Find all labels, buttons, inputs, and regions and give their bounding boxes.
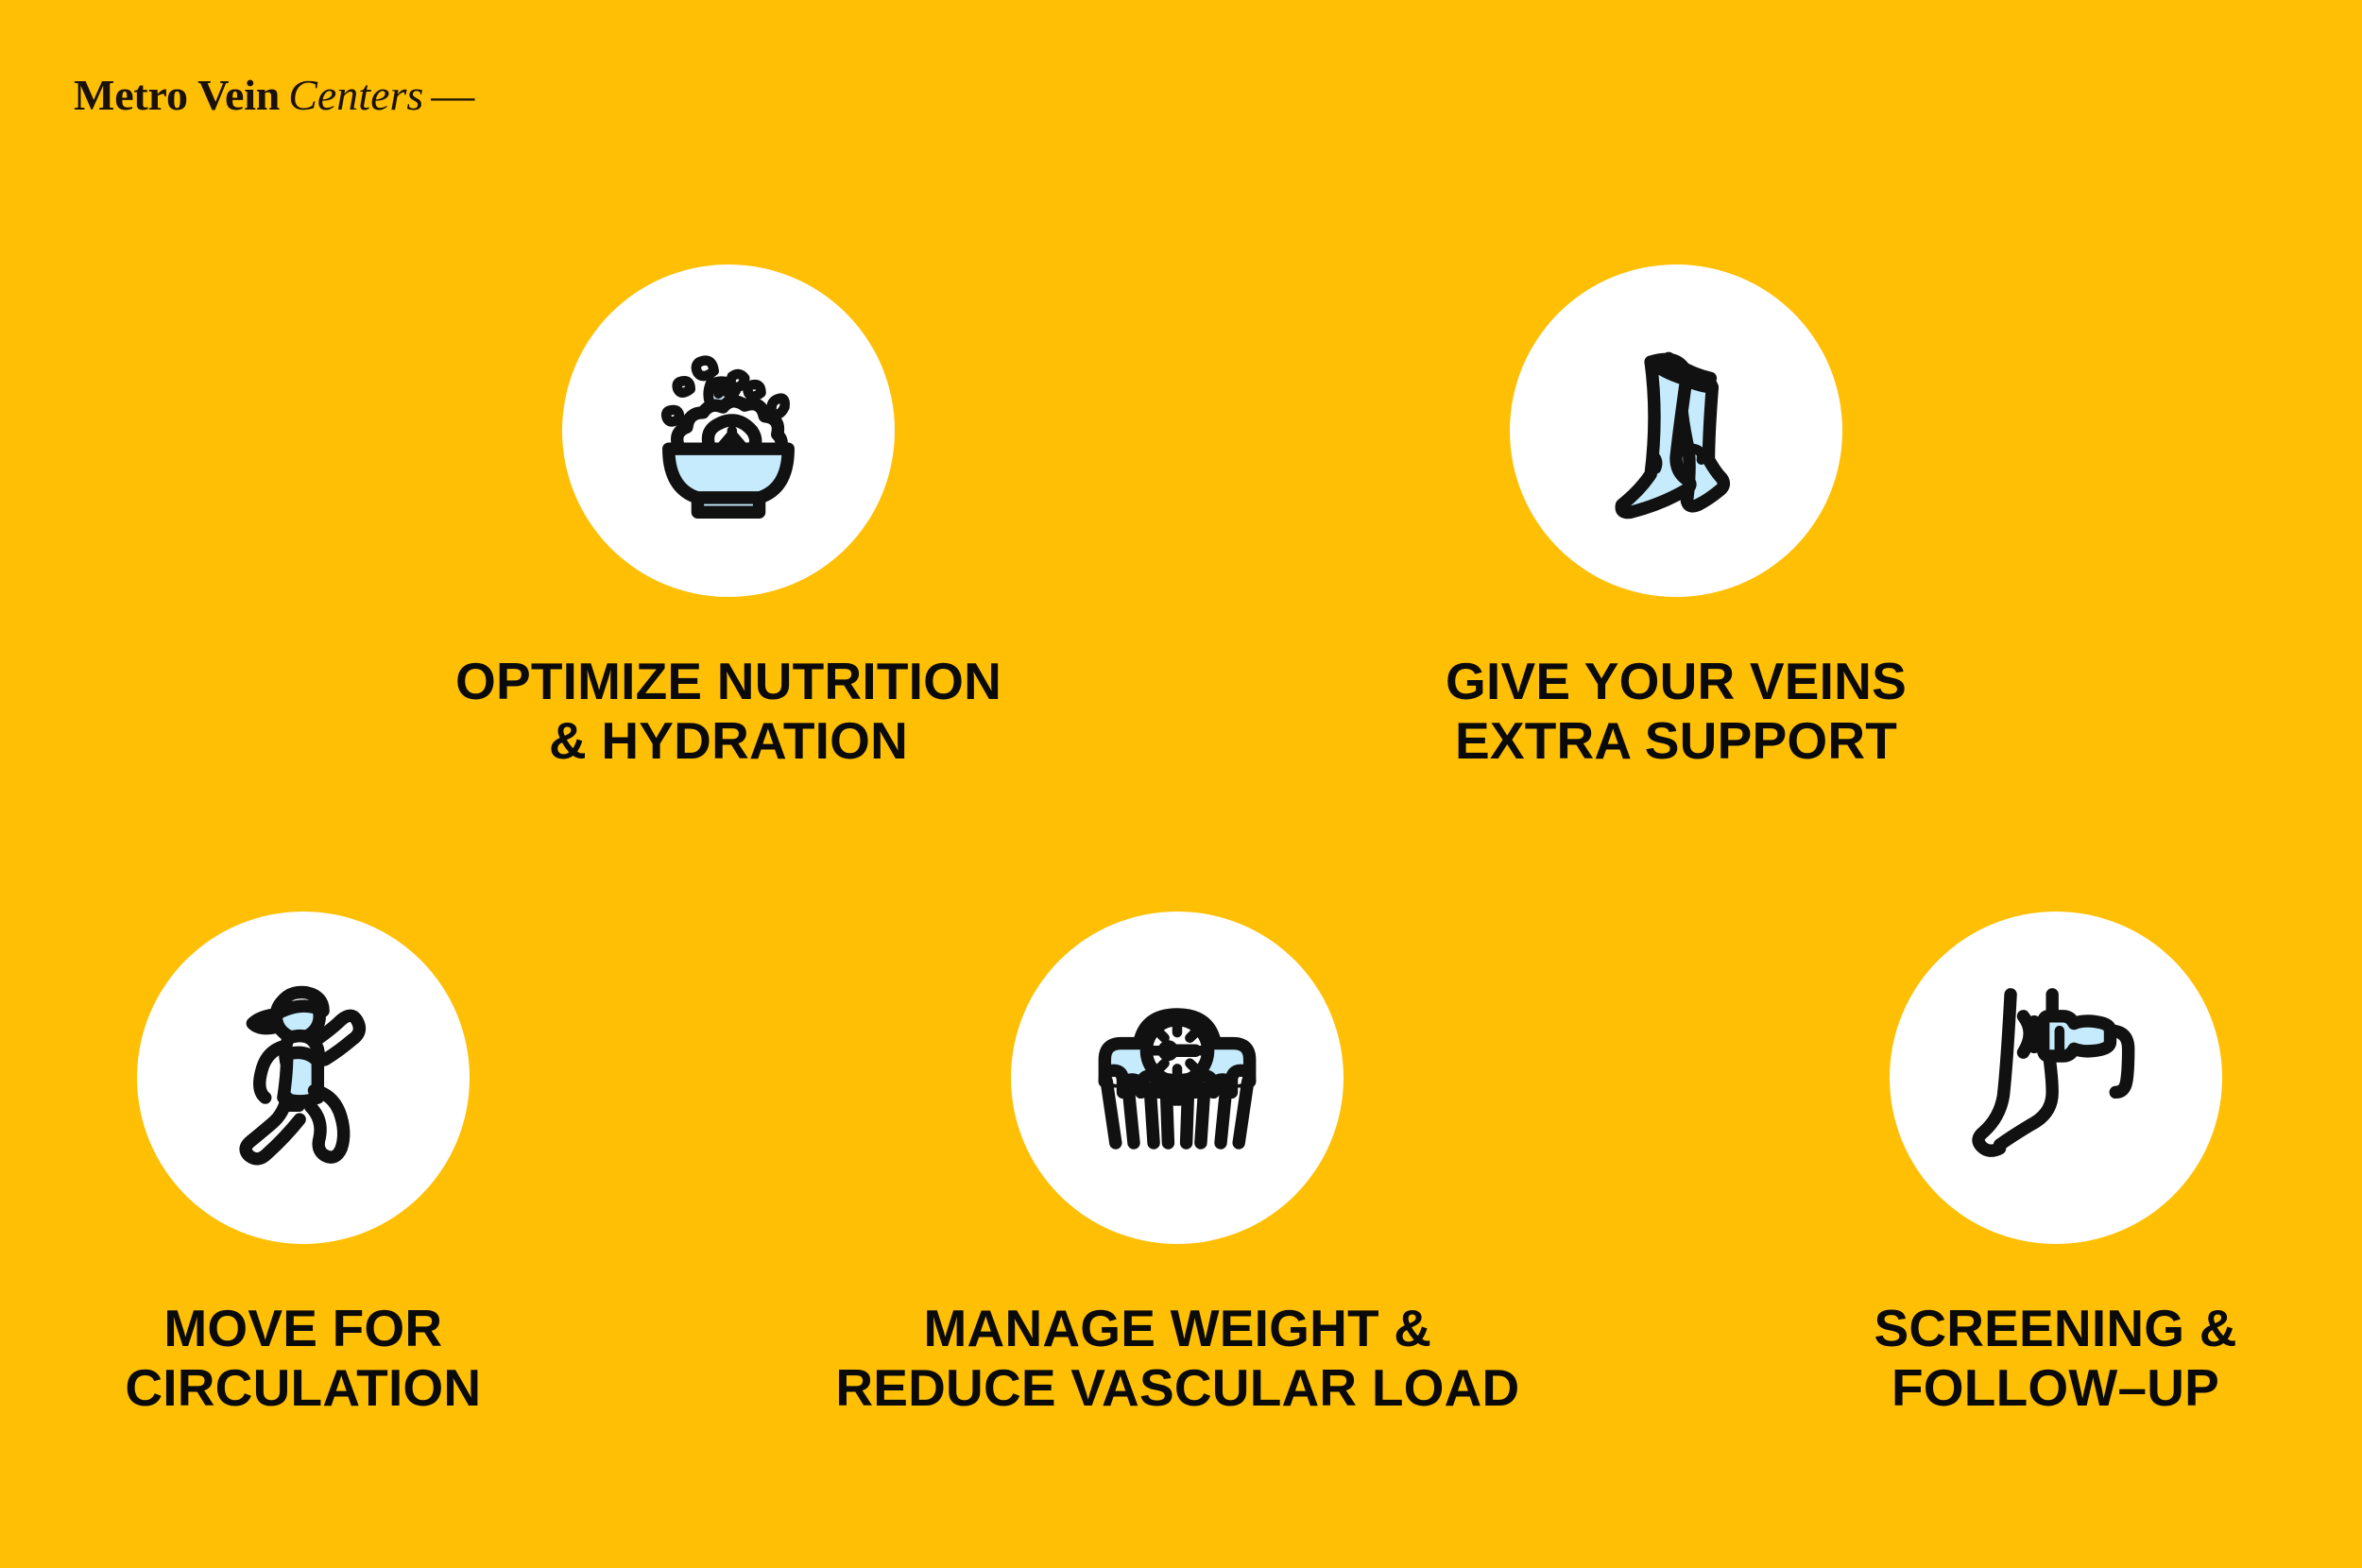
brand-name-primary: Metro Vein: [74, 71, 280, 119]
icon-circle-nutrition: [562, 264, 895, 597]
compression-stockings-icon: [1567, 322, 1785, 539]
benefit-label-move: MOVE FOR CIRCULATION: [125, 1299, 481, 1417]
benefit-label-nutrition: OPTIMIZE NUTRITION & HYDRATION: [455, 652, 1001, 770]
benefit-label-screen: SCREENING & FOLLOW–UP: [1874, 1299, 2236, 1417]
salad-bowl-icon: [620, 322, 837, 539]
running-person-icon: [195, 969, 412, 1186]
benefit-item-weight: MANAGE WEIGHT & REDUCE VASCULAR LOAD: [835, 912, 1519, 1417]
benefits-row-top: OPTIMIZE NUTRITION & HYDRATION GIVE YOUR…: [0, 264, 2362, 770]
benefits-row-bottom: MOVE FOR CIRCULATION: [0, 912, 2362, 1417]
benefit-item-move: MOVE FOR CIRCULATION: [125, 912, 481, 1417]
brand-logo: Metro VeinCenters—: [74, 74, 474, 117]
benefit-item-support: GIVE YOUR VEINS EXTRA SUPPORT: [1446, 264, 1907, 770]
benefit-label-support: GIVE YOUR VEINS EXTRA SUPPORT: [1446, 652, 1907, 770]
benefit-item-screen: SCREENING & FOLLOW–UP: [1874, 912, 2236, 1417]
ultrasound-probe-leg-icon: [1947, 969, 2165, 1186]
icon-circle-screen: [1890, 912, 2222, 1244]
weight-scale-icon: [1069, 969, 1286, 1186]
icon-circle-support: [1510, 264, 1842, 597]
benefit-label-weight: MANAGE WEIGHT & REDUCE VASCULAR LOAD: [835, 1299, 1519, 1417]
icon-circle-weight: [1011, 912, 1344, 1244]
brand-dash: —: [431, 71, 474, 119]
icon-circle-move: [137, 912, 470, 1244]
brand-name-secondary: Centers: [288, 71, 423, 119]
benefit-item-nutrition: OPTIMIZE NUTRITION & HYDRATION: [455, 264, 1001, 770]
